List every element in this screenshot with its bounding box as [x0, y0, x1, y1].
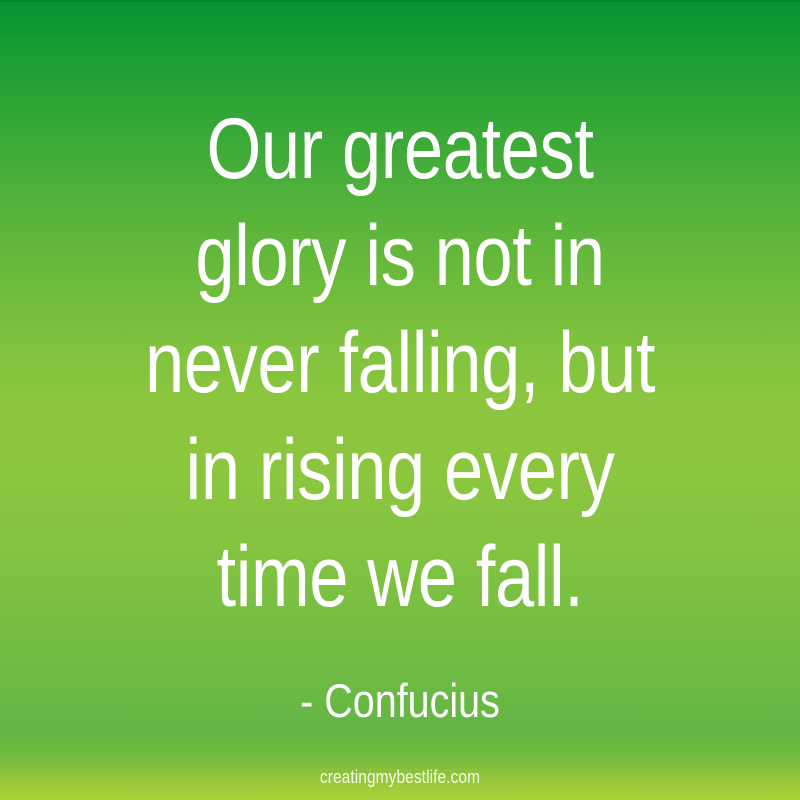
quote-text-block: Our greatest glory is not in never falli… — [0, 96, 800, 631]
quote-line-5: time we fall. — [72, 524, 728, 631]
quote-line-4: in rising every — [72, 417, 728, 524]
quote-line-1: Our greatest — [72, 96, 728, 203]
quote-card: Our greatest glory is not in never falli… — [0, 0, 800, 800]
quote-attribution: - Confucius — [64, 673, 736, 729]
quote-line-2: glory is not in — [72, 203, 728, 310]
footer-website-url: creatingmybestlife.com — [56, 766, 744, 788]
quote-line-3: never falling, but — [72, 310, 728, 417]
top-edge-hairline — [0, 0, 800, 2]
